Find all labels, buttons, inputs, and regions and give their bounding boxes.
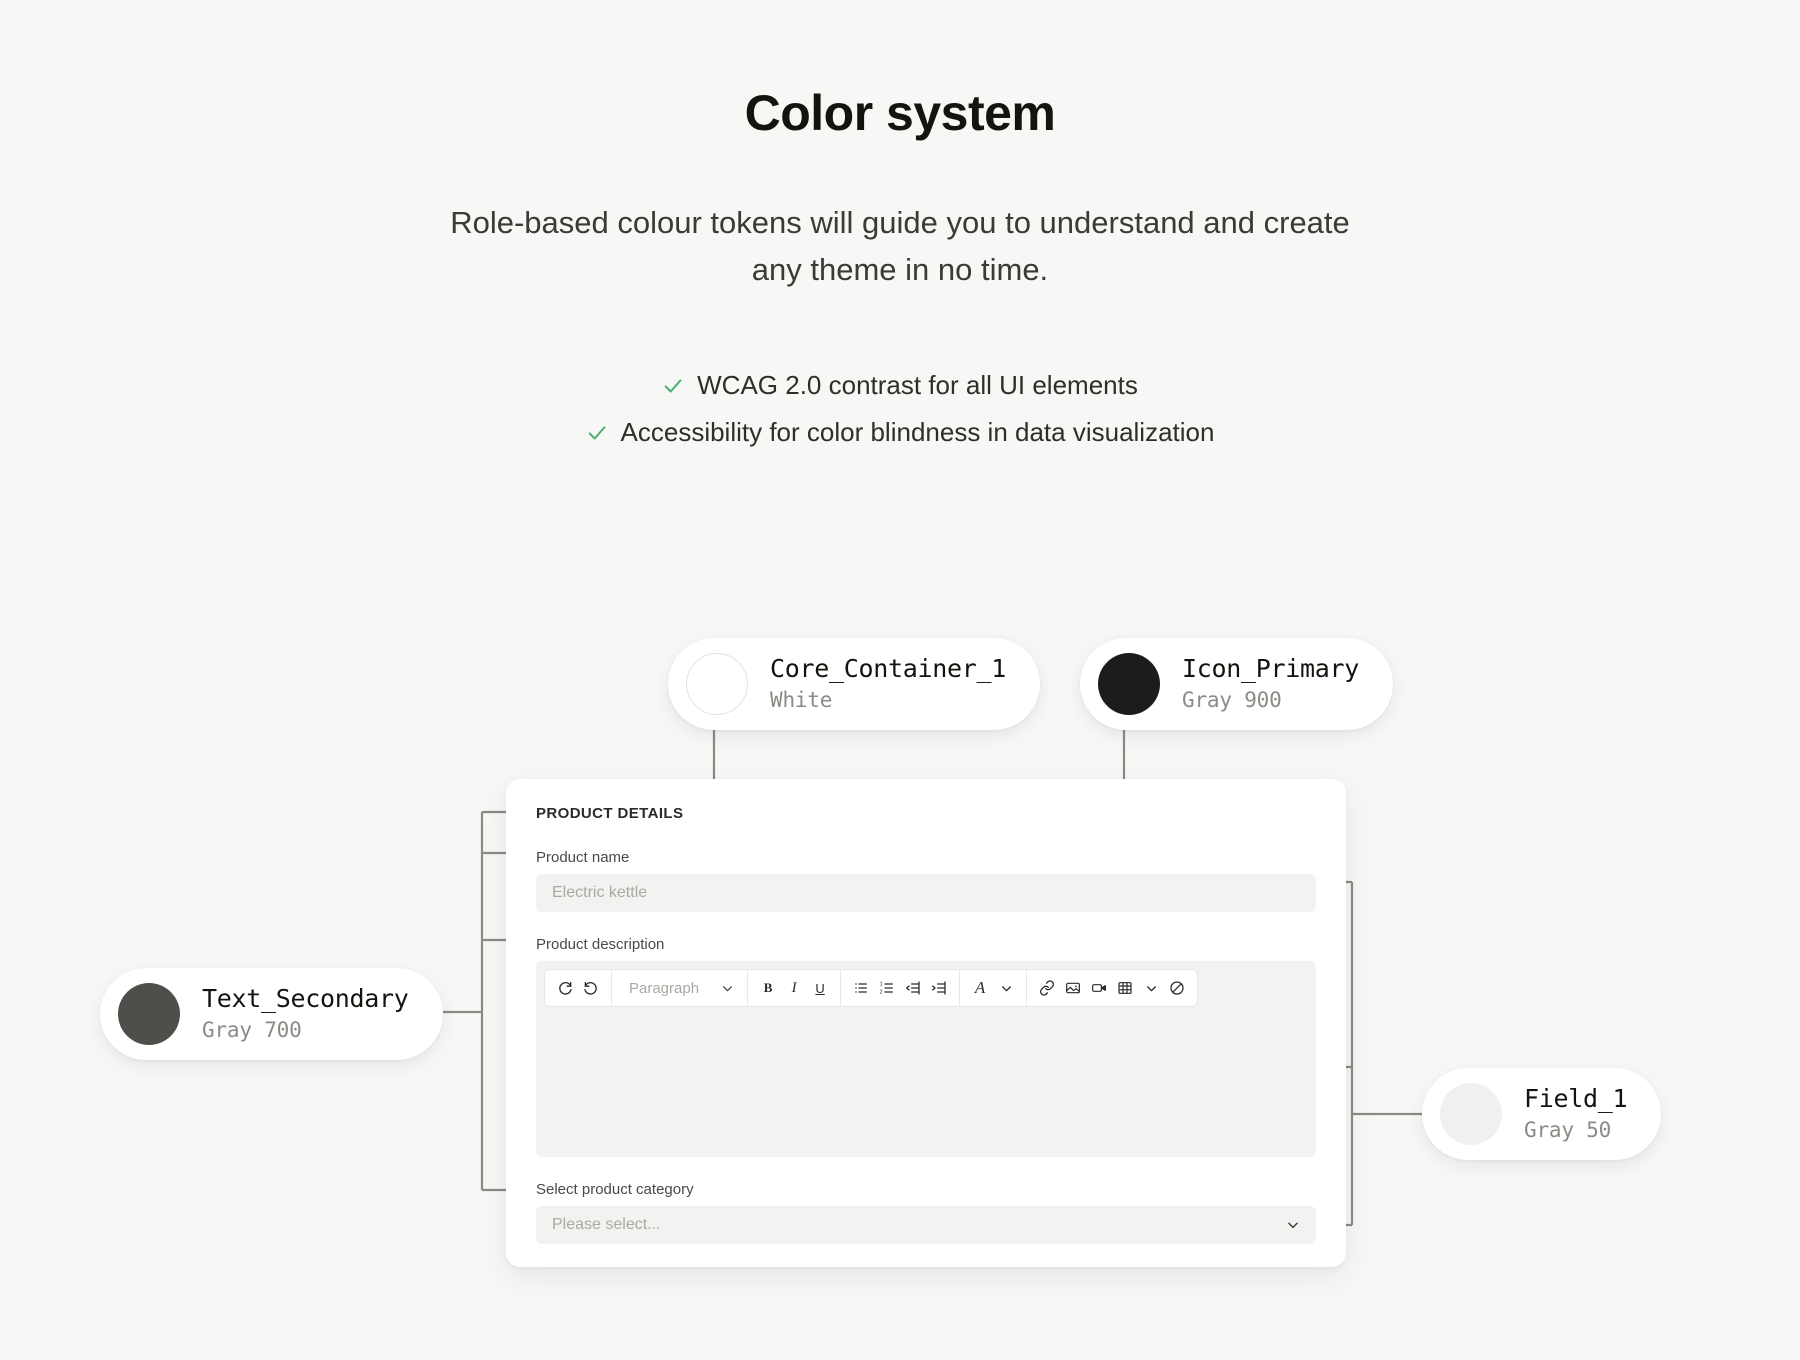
editor-content-area[interactable]	[536, 1007, 1316, 1157]
page-subtitle: Role-based colour tokens will guide you …	[450, 200, 1350, 293]
token-pill-text-secondary[interactable]: Text_Secondary Gray 700	[100, 968, 443, 1060]
token-value: Gray 700	[202, 1018, 409, 1043]
product-description-label: Product description	[536, 936, 1316, 953]
token-value: Gray 900	[1182, 688, 1359, 713]
color-swatch	[1098, 653, 1160, 715]
toolbar-group-insert	[1027, 970, 1197, 1006]
list-item-label: Accessibility for color blindness in dat…	[621, 417, 1215, 448]
numbered-list-icon[interactable]: 1 2	[874, 974, 900, 1002]
chevron-down-icon[interactable]	[721, 982, 734, 995]
chevron-down-icon[interactable]	[1138, 974, 1164, 1002]
bold-label: B	[764, 980, 773, 996]
spacer	[536, 1157, 1316, 1181]
video-icon[interactable]	[1086, 974, 1112, 1002]
svg-text:2: 2	[880, 989, 883, 995]
page-root: Color system Role-based colour tokens wi…	[0, 0, 1800, 1360]
chevron-down-icon[interactable]	[1286, 1218, 1300, 1232]
list-item: Accessibility for color blindness in dat…	[586, 417, 1215, 448]
toolbar-group-font: A	[960, 970, 1027, 1006]
product-details-card: PRODUCT DETAILS Product name Electric ke…	[506, 779, 1346, 1267]
toolbar-group-lists: 1 2	[841, 970, 960, 1006]
underline-icon[interactable]: U	[807, 974, 833, 1002]
paragraph-select[interactable]: Paragraph	[619, 980, 740, 997]
toolbar-group-history	[545, 970, 612, 1006]
product-category-label: Select product category	[536, 1181, 1316, 1198]
color-swatch	[118, 983, 180, 1045]
section-title: PRODUCT DETAILS	[536, 805, 1316, 822]
svg-text:1: 1	[880, 981, 883, 987]
toolbar-group-block-style: Paragraph	[612, 970, 748, 1006]
token-name: Core_Container_1	[770, 654, 1006, 684]
list-item-label: WCAG 2.0 contrast for all UI elements	[697, 370, 1138, 401]
undo-icon[interactable]	[578, 974, 604, 1002]
product-category-select[interactable]: Please select...	[536, 1206, 1316, 1244]
color-swatch	[1440, 1083, 1502, 1145]
check-icon	[662, 375, 684, 397]
page-title: Color system	[0, 84, 1800, 142]
redo-icon[interactable]	[552, 974, 578, 1002]
bold-icon[interactable]: B	[755, 974, 781, 1002]
token-name: Field_1	[1524, 1084, 1627, 1114]
font-style-label: A	[975, 978, 985, 998]
spacer	[536, 912, 1316, 936]
token-name: Text_Secondary	[202, 984, 409, 1014]
chevron-down-icon[interactable]	[993, 974, 1019, 1002]
clear-format-icon[interactable]	[1164, 974, 1190, 1002]
image-icon[interactable]	[1060, 974, 1086, 1002]
product-category-placeholder: Please select...	[552, 1216, 661, 1234]
token-value: White	[770, 688, 1006, 713]
bullet-list-icon[interactable]	[848, 974, 874, 1002]
table-icon[interactable]	[1112, 974, 1138, 1002]
underline-label: U	[815, 981, 824, 996]
product-name-label: Product name	[536, 849, 1316, 866]
token-name: Icon_Primary	[1182, 654, 1359, 684]
paragraph-select-value: Paragraph	[629, 980, 699, 997]
product-name-input[interactable]: Electric kettle	[536, 874, 1316, 912]
color-swatch	[686, 653, 748, 715]
token-pill-field-1[interactable]: Field_1 Gray 50	[1422, 1068, 1661, 1160]
list-item: WCAG 2.0 contrast for all UI elements	[662, 370, 1138, 401]
token-value: Gray 50	[1524, 1118, 1627, 1143]
feature-check-list: WCAG 2.0 contrast for all UI elements Ac…	[300, 370, 1500, 448]
product-name-placeholder: Electric kettle	[552, 884, 647, 902]
token-pill-icon-primary[interactable]: Icon_Primary Gray 900	[1080, 638, 1393, 730]
outdent-icon[interactable]	[900, 974, 926, 1002]
toolbar-group-inline-style: B I U	[748, 970, 841, 1006]
italic-label: I	[792, 980, 797, 997]
rich-text-editor: Paragraph B I U	[536, 961, 1316, 1157]
token-pill-core-container-1[interactable]: Core_Container_1 White	[668, 638, 1040, 730]
editor-toolbar: Paragraph B I U	[544, 969, 1198, 1007]
check-icon	[586, 422, 608, 444]
italic-icon[interactable]: I	[781, 974, 807, 1002]
font-style-icon[interactable]: A	[967, 974, 993, 1002]
indent-icon[interactable]	[926, 974, 952, 1002]
link-icon[interactable]	[1034, 974, 1060, 1002]
